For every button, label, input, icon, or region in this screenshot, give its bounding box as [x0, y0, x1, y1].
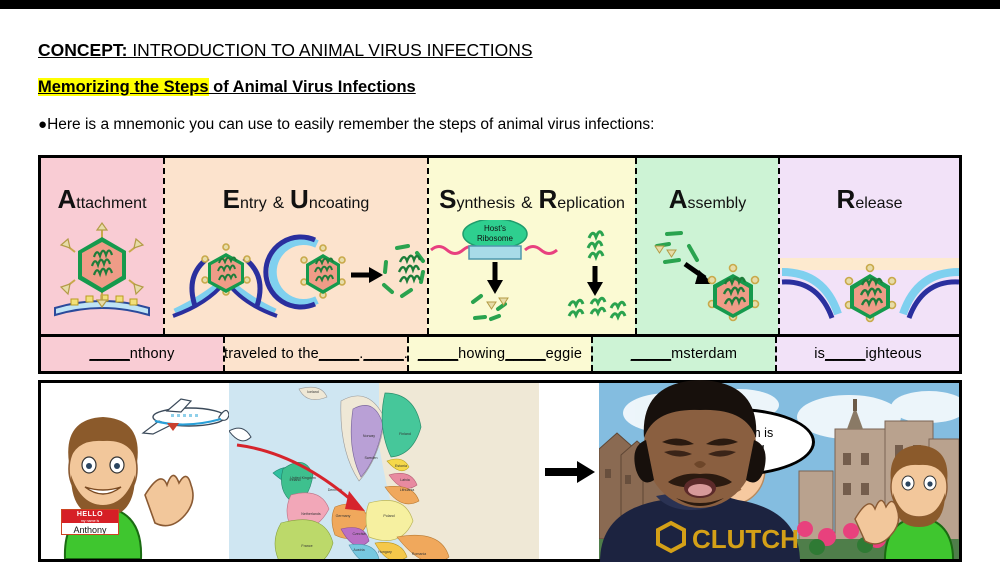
bullet-marker: ● — [38, 116, 47, 133]
europe-map-icon: NorwaySwedenFinland EstoniaLatviaLithuan… — [229, 383, 539, 559]
mnemonic-text-after: ighteous — [865, 346, 921, 362]
attachment-diagram — [41, 220, 163, 334]
synthesis-replication-diagram: Host's Ribosome — [429, 220, 635, 334]
svg-text:United Kingdom: United Kingdom — [290, 476, 316, 480]
svg-text:Norway: Norway — [363, 434, 375, 438]
step-initial: E — [223, 184, 240, 214]
endocytosis-and-capsid-uncoating-icon — [165, 220, 427, 334]
svg-text:Iceland: Iceland — [307, 390, 319, 394]
step-rest: ssembly — [688, 195, 747, 212]
svg-text:Estonia: Estonia — [395, 464, 407, 468]
mnemonic-cell-release: is _____ighteous — [775, 337, 959, 372]
ribosome-label-line1: Host's — [484, 224, 506, 233]
nametag-name: Anthony — [62, 523, 118, 535]
mnemonic-cell-assembly: _____msterdam — [591, 337, 775, 372]
step-title-attachment: Attachment — [41, 186, 163, 212]
components-assembling-into-virion-icon — [637, 220, 778, 334]
mnemonic-text: traveled to the — [224, 346, 319, 362]
step-initial: A — [669, 184, 688, 214]
step-title-assembly: Assembly — [637, 186, 778, 212]
svg-text:Germany: Germany — [336, 514, 351, 518]
step-rest: ntry — [240, 195, 267, 212]
svg-text:Poland: Poland — [383, 514, 394, 518]
mnemonic-text-1: howing — [458, 346, 505, 362]
step-initial: S — [439, 184, 456, 214]
concept-title: INTRODUCTION TO ANIMAL VIRUS INFECTIONS — [127, 40, 532, 60]
svg-text:Romania: Romania — [412, 552, 426, 556]
assembly-diagram — [637, 220, 778, 334]
svg-text:Netherlands: Netherlands — [301, 512, 321, 516]
mnemonic-cell-entry-uncoating: traveled to the _____. _____. — [223, 337, 407, 372]
step-cell-attachment: Attachment — [41, 158, 163, 334]
anthony-departure-scene: HELLO my name is Anthony — [41, 383, 229, 559]
table-diagram-row: Attachment — [41, 158, 959, 334]
svg-text:Czechia: Czechia — [353, 532, 366, 536]
step-ampersand: & — [515, 193, 538, 212]
step-title-entry-uncoating: Entry&Uncoating — [165, 186, 427, 212]
instructor-webcam-video[interactable]: CLUTCH — [540, 380, 810, 562]
entry-uncoating-diagram — [165, 220, 427, 334]
nametag-hello: HELLO — [62, 510, 118, 519]
ribosome-protein-synthesis-icon: Host's Ribosome — [429, 220, 635, 334]
arrow-icon — [351, 267, 383, 283]
step-rest-2: eplication — [557, 195, 625, 212]
ribosome-label-line2: Ribosome — [477, 234, 514, 243]
table-mnemonic-row: _____nthony traveled to the _____. _____… — [41, 334, 959, 372]
svg-text:France: France — [301, 544, 312, 548]
section-subtitle: Memorizing the Steps of Animal Virus Inf… — [38, 78, 416, 97]
step-rest: ttachment — [76, 195, 146, 212]
step-rest: ynthesis — [456, 195, 515, 212]
blank-line-2: _____ — [505, 346, 545, 362]
mnemonic-cell-attachment: _____nthony — [41, 337, 223, 372]
concept-label: CONCEPT: — [38, 40, 127, 60]
step-cell-synthesis-replication: Synthesis&Replication Host's Ribosome — [427, 158, 635, 334]
step-initial-2: U — [290, 184, 309, 214]
svg-text:Hungary: Hungary — [378, 550, 392, 554]
mnemonic-text: msterdam — [671, 346, 737, 362]
svg-text:Austria: Austria — [353, 548, 364, 552]
top-black-bar — [0, 0, 1000, 9]
subtitle-rest: of Animal Virus Infections — [209, 78, 416, 96]
illustration-panel: HELLO my name is Anthony — [38, 380, 962, 562]
anthony-nametag: HELLO my name is Anthony — [61, 509, 119, 535]
step-initial: A — [57, 184, 76, 214]
step-ampersand: & — [267, 193, 290, 212]
blank-line-1: _____ — [319, 346, 359, 362]
instructor-webcam[interactable]: CLUTCH — [540, 380, 810, 562]
step-cell-release: Release — [778, 158, 959, 334]
blank-line-1: _____ — [418, 346, 458, 362]
step-initial: R — [837, 184, 856, 214]
blank-line-2: _____ — [363, 346, 403, 362]
step-initial-2: R — [539, 184, 558, 214]
mnemonic-cell-synthesis-replication: _____howing _____eggie — [407, 337, 591, 372]
virus-attaching-to-cell-membrane-icon — [41, 220, 163, 334]
mnemonic-text-before: is — [814, 346, 825, 362]
step-cell-entry-uncoating: Entry&Uncoating — [163, 158, 427, 334]
mnemonic-text: nthony — [130, 346, 175, 362]
europe-map-scene: NorwaySwedenFinland EstoniaLatviaLithuan… — [229, 383, 539, 559]
bullet-text: Here is a mnemonic you can use to easily… — [47, 116, 654, 133]
blank-line: _____ — [825, 346, 865, 362]
step-rest-2: ncoating — [309, 195, 370, 212]
subtitle-highlighted: Memorizing the Steps — [38, 78, 209, 96]
blank-line: _____ — [631, 346, 671, 362]
release-diagram — [780, 220, 959, 334]
step-title-synthesis-replication: Synthesis&Replication — [429, 186, 635, 212]
concept-heading: CONCEPT: INTRODUCTION TO ANIMAL VIRUS IN… — [38, 40, 533, 61]
svg-text:Finland: Finland — [399, 432, 411, 436]
virus-budding-out-of-membrane-icon — [780, 220, 959, 334]
step-cell-assembly: Assembly — [635, 158, 778, 334]
step-title-release: Release — [780, 186, 959, 212]
svg-text:Sweden: Sweden — [365, 456, 378, 460]
clutch-wordmark: CLUTCH — [692, 524, 799, 554]
step-rest: elease — [855, 195, 902, 212]
mnemonic-steps-table: Attachment — [38, 155, 962, 374]
svg-text:Lithuania: Lithuania — [400, 488, 415, 492]
blank-line: _____ — [89, 346, 129, 362]
mnemonic-text-2: eggie — [546, 346, 582, 362]
intro-bullet: ●Here is a mnemonic you can use to easil… — [38, 116, 654, 134]
svg-text:Latvia: Latvia — [400, 478, 410, 482]
